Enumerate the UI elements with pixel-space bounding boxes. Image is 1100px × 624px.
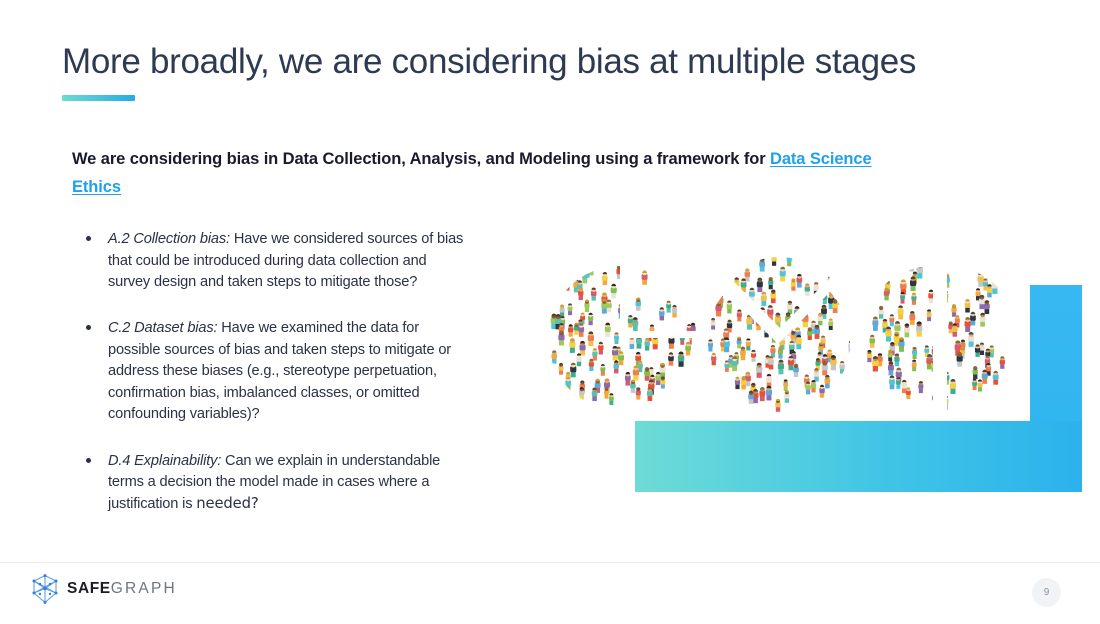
pie-slice-crowd [867, 256, 1010, 409]
bullet-dot-icon [86, 325, 91, 330]
safegraph-network-icon [32, 574, 58, 604]
bullet-label: A.2 Collection bias: [108, 231, 230, 247]
bullet-label: C.2 Dataset bias: [108, 320, 217, 336]
list-item: C.2 Dataset bias: Have we examined the d… [72, 318, 472, 425]
bullet-dot-icon [86, 236, 91, 241]
slide: More broadly, we are considering bias at… [0, 0, 1100, 624]
page-number-badge: 9 [1032, 578, 1061, 607]
bullet-list: A.2 Collection bias: Have we considered … [72, 229, 472, 516]
subheading-text: We are considering bias in Data Collecti… [72, 150, 770, 168]
logo-safe-text: SAFE [67, 580, 111, 597]
safegraph-wordmark: SAFEGRAPH [67, 580, 177, 598]
people-pie-charts-illustration [520, 248, 1100, 508]
footer-divider [0, 562, 1100, 563]
bullet-label: D.4 Explainability: [108, 453, 221, 469]
title-accent-bar [62, 95, 135, 101]
bullet-dot-icon [86, 458, 91, 463]
pie-slice-crowd [551, 263, 697, 405]
bullet-tail-word: needed? [196, 495, 258, 512]
page-title: More broadly, we are considering bias at… [62, 42, 1022, 82]
content-column: We are considering bias in Data Collecti… [72, 145, 472, 516]
logo-graph-text: GRAPH [111, 580, 177, 597]
safegraph-logo: SAFEGRAPH [32, 574, 177, 604]
list-item: A.2 Collection bias: Have we considered … [72, 229, 472, 293]
subheading: We are considering bias in Data Collecti… [72, 145, 902, 201]
list-item: D.4 Explainability: Can we explain in un… [72, 451, 472, 516]
pie-charts-people [520, 248, 1100, 508]
